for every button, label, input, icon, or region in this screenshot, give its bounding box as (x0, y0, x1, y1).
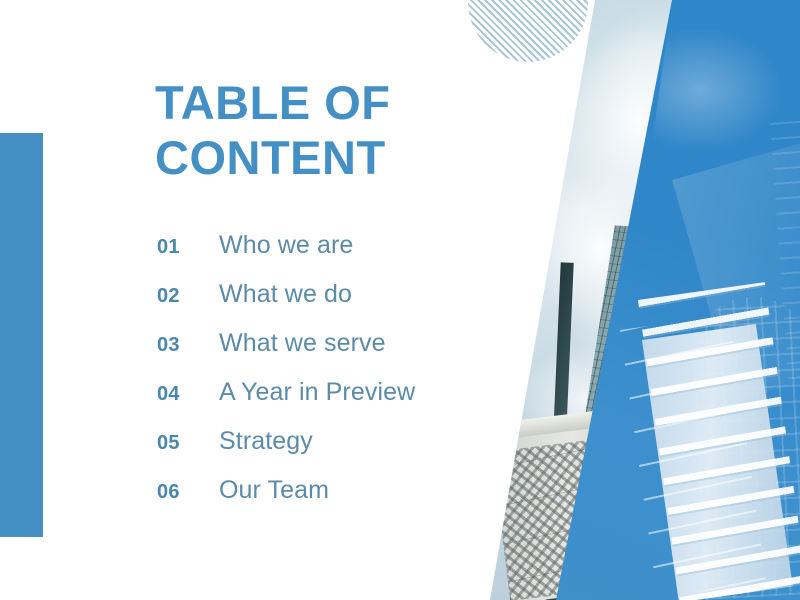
list-item-label: Strategy (219, 427, 313, 456)
list-item[interactable]: 06 Our Team (157, 476, 517, 525)
list-item[interactable]: 05 Strategy (157, 427, 517, 476)
list-item-number: 03 (157, 334, 219, 357)
slide: TABLE OF CONTENT 01 Who we are 02 What w… (0, 0, 800, 600)
list-item-number: 04 (157, 383, 219, 406)
list-item[interactable]: 04 A Year in Preview (157, 378, 517, 427)
left-accent-bar (0, 133, 43, 537)
list-item-number: 05 (157, 432, 219, 455)
list-item-number: 06 (157, 481, 219, 504)
list-item-number: 01 (157, 236, 219, 259)
page-title: TABLE OF CONTENT (155, 76, 495, 186)
list-item-label: What we do (219, 280, 352, 309)
list-item-label: What we serve (219, 329, 386, 358)
list-item[interactable]: 03 What we serve (157, 329, 517, 378)
table-of-contents-list: 01 Who we are 02 What we do 03 What we s… (157, 231, 517, 525)
list-item[interactable]: 02 What we do (157, 280, 517, 329)
list-item-label: Who we are (219, 231, 353, 260)
list-item-label: A Year in Preview (219, 378, 415, 407)
list-item-label: Our Team (219, 476, 329, 505)
striped-circle-decoration (468, 0, 588, 62)
list-item-number: 02 (157, 285, 219, 308)
list-item[interactable]: 01 Who we are (157, 231, 517, 280)
